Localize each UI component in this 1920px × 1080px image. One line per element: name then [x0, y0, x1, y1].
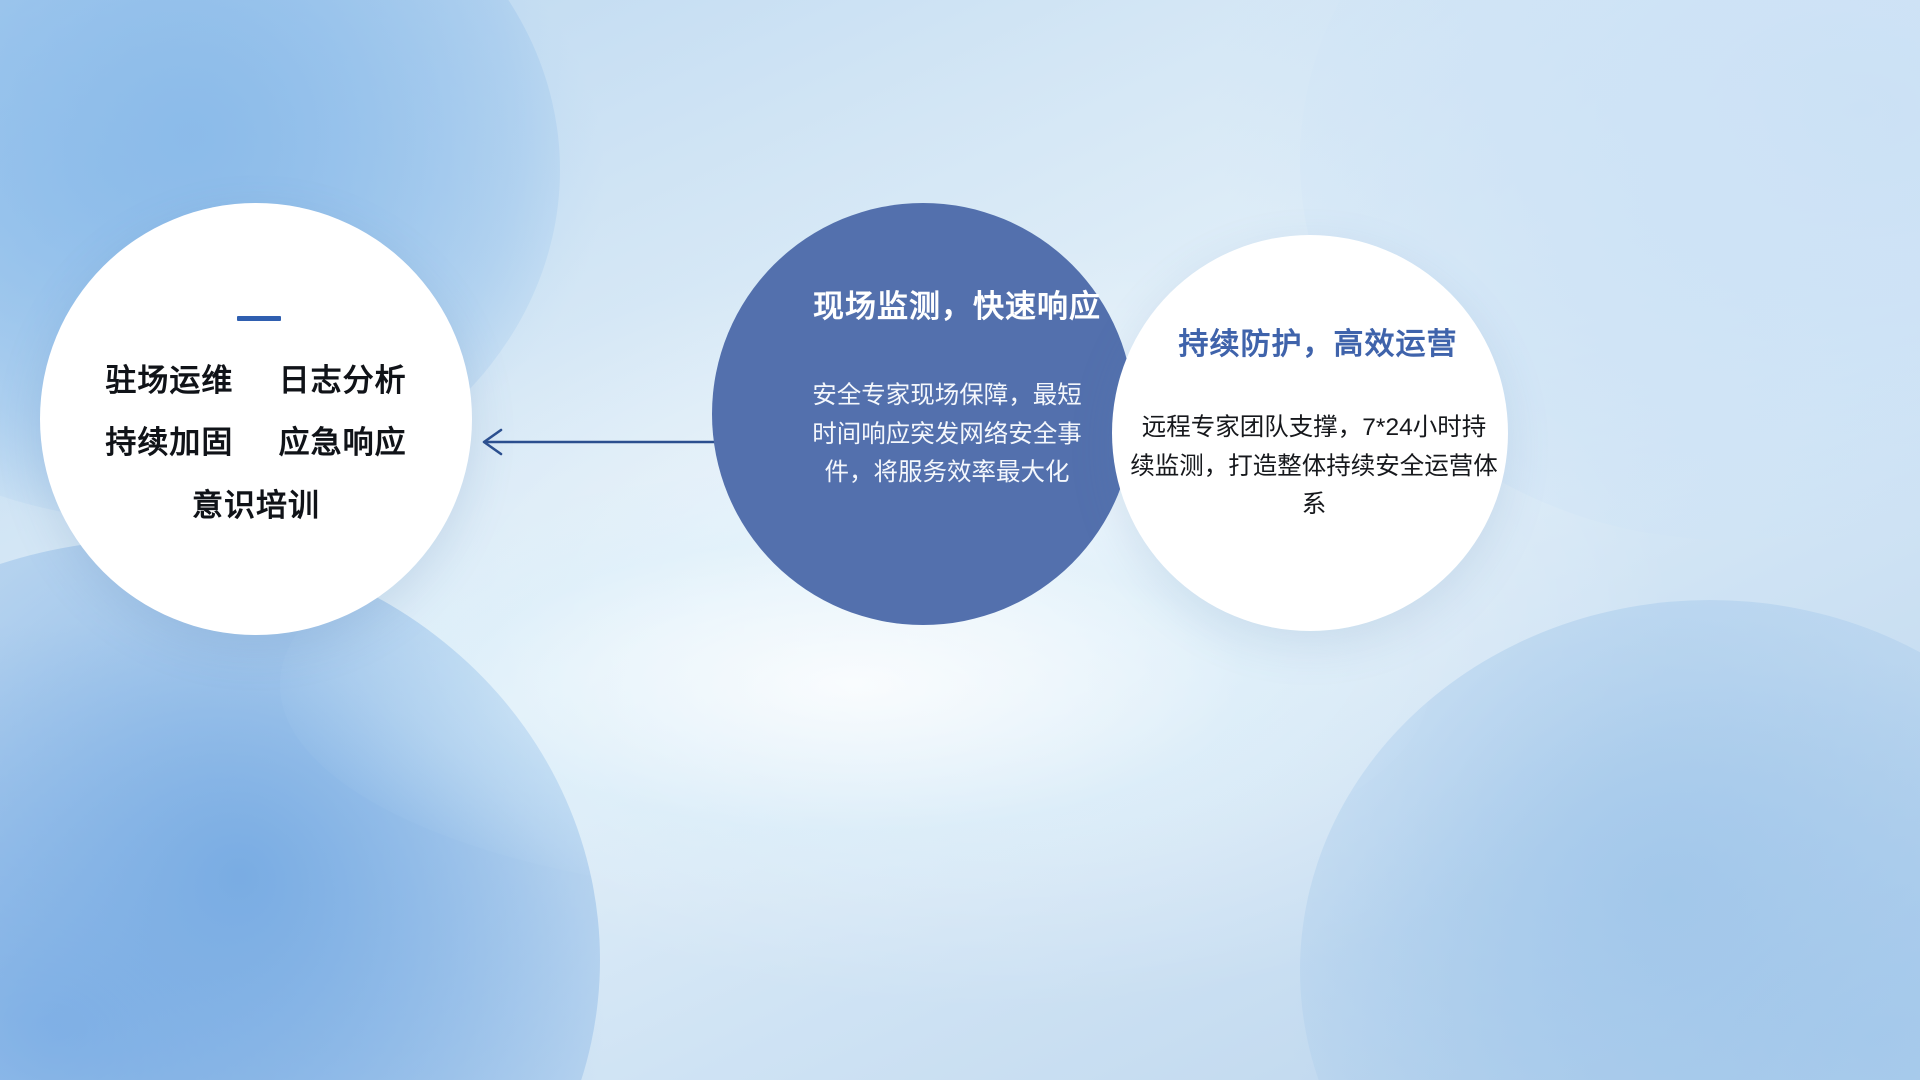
capability-row: 持续加固 应急响应: [105, 427, 406, 460]
arrow-left-icon: [470, 405, 740, 480]
right-circle-description: 远程专家团队支撑，7*24小时持续监测，打造整体持续安全运营体系: [1130, 409, 1498, 525]
middle-circle-content: 现场监测，快速响应 安全专家现场保障，最短时间响应突发网络安全事件，将服务效率最…: [712, 203, 1134, 625]
capability-tag: 驻场运维: [105, 363, 233, 398]
capability-tag: 应急响应: [279, 425, 407, 460]
capability-circle-left: 驻场运维 日志分析 持续加固 应急响应 意识培训: [40, 203, 472, 635]
right-circle-title: 持续防护，高效运营: [1179, 319, 1458, 363]
middle-circle-description: 安全专家现场保障，最短时间响应突发网络安全事件，将服务效率最大化: [812, 377, 1082, 493]
left-circle-content: 驻场运维 日志分析 持续加固 应急响应 意识培训: [40, 203, 472, 635]
capability-tag: 持续加固: [105, 425, 233, 460]
divider-dash: [237, 316, 281, 321]
middle-circle-title: 现场监测，快速响应: [813, 281, 1101, 326]
capability-tag: 意识培训: [192, 488, 320, 523]
capability-circle-right: 持续防护，高效运营 远程专家团队支撑，7*24小时持续监测，打造整体持续安全运营…: [1112, 235, 1508, 631]
capability-row: 驻场运维 日志分析: [105, 365, 406, 398]
capability-circle-middle: 现场监测，快速响应 安全专家现场保障，最短时间响应突发网络安全事件，将服务效率最…: [712, 203, 1134, 625]
capability-tag: 日志分析: [279, 363, 407, 398]
capability-row: 意识培训: [192, 490, 320, 523]
right-circle-content: 持续防护，高效运营 远程专家团队支撑，7*24小时持续监测，打造整体持续安全运营…: [1112, 235, 1508, 631]
